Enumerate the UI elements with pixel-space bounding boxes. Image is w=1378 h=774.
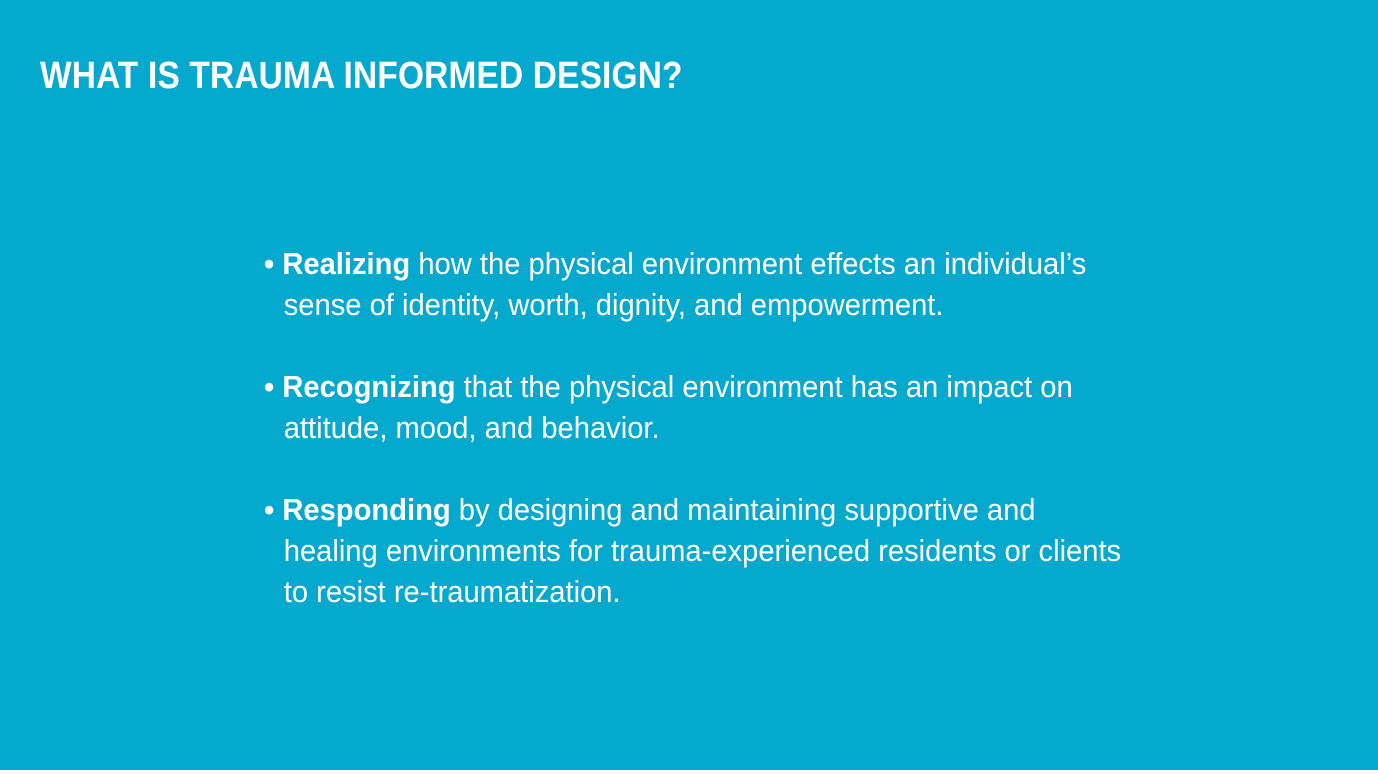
list-item: • Recognizing that the physical environm… <box>264 366 1134 448</box>
bullet-marker-icon: • <box>264 246 274 281</box>
bullet-marker-icon: • <box>264 492 274 527</box>
bullet-marker-icon: • <box>264 369 274 404</box>
list-item-lead: Responding <box>282 492 450 527</box>
bottom-edge-strip <box>0 770 1378 774</box>
slide-canvas: WHAT IS TRAUMA INFORMED DESIGN? • Realiz… <box>0 0 1378 774</box>
bullet-list: • Realizing how the physical environment… <box>264 212 1124 612</box>
list-item: • Responding by designing and maintainin… <box>264 489 1134 612</box>
list-item-lead: Realizing <box>282 246 410 281</box>
page-title: WHAT IS TRAUMA INFORMED DESIGN? <box>40 55 920 97</box>
list-item-lead: Recognizing <box>282 369 455 404</box>
list-item: • Realizing how the physical environment… <box>264 243 1134 325</box>
